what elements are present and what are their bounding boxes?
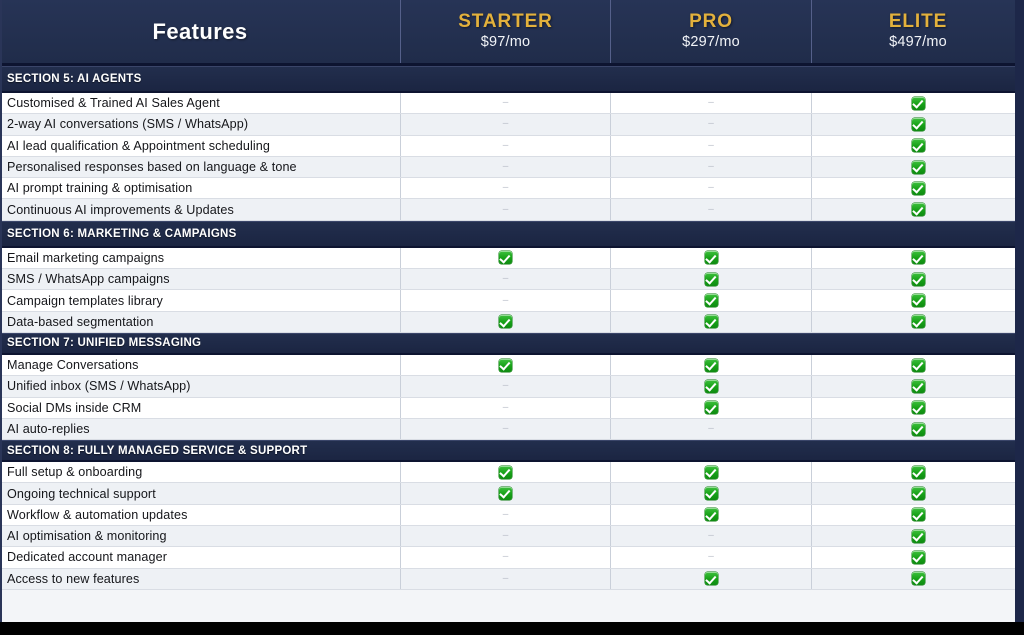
check-icon <box>705 466 718 479</box>
feature-excluded-cell: – <box>611 157 812 177</box>
feature-label: AI optimisation & monitoring <box>0 526 401 546</box>
dash-icon: – <box>503 274 509 284</box>
table-row: Manage Conversations <box>0 355 1024 376</box>
feature-label: Manage Conversations <box>0 355 401 375</box>
feature-excluded-cell: – <box>611 419 812 439</box>
feature-excluded-cell: – <box>401 114 611 134</box>
feature-included-cell <box>812 355 1024 375</box>
table-row: SMS / WhatsApp campaigns– <box>0 269 1024 290</box>
check-icon <box>912 423 925 436</box>
dash-icon: – <box>708 162 714 172</box>
plan-name-pro: PRO <box>689 11 733 33</box>
check-icon <box>912 294 925 307</box>
section-header: SECTION 5: AI AGENTS <box>0 66 1024 93</box>
feature-included-cell <box>401 312 611 332</box>
check-icon <box>705 487 718 500</box>
table-row: AI prompt training & optimisation–– <box>0 178 1024 199</box>
check-icon <box>912 97 925 110</box>
section-title: SECTION 8: FULLY MANAGED SERVICE & SUPPO… <box>7 445 307 457</box>
feature-label: Personalised responses based on language… <box>0 157 401 177</box>
pricing-comparison-table: Features STARTER $97/mo PRO $297/mo ELIT… <box>0 0 1024 635</box>
section-title: SECTION 7: UNIFIED MESSAGING <box>7 337 201 349</box>
header-cell-pro[interactable]: PRO $297/mo <box>611 0 812 63</box>
feature-label: Ongoing technical support <box>0 483 401 503</box>
feature-excluded-cell: – <box>401 526 611 546</box>
check-icon <box>912 551 925 564</box>
feature-label: Unified inbox (SMS / WhatsApp) <box>0 376 401 396</box>
check-icon <box>912 315 925 328</box>
table-row: AI lead qualification & Appointment sche… <box>0 136 1024 157</box>
table-row: Full setup & onboarding <box>0 462 1024 483</box>
feature-included-cell <box>812 398 1024 418</box>
feature-label: Workflow & automation updates <box>0 505 401 525</box>
dash-icon: – <box>708 119 714 129</box>
feature-excluded-cell: – <box>401 178 611 198</box>
feature-included-cell <box>611 398 812 418</box>
table-row: Social DMs inside CRM– <box>0 398 1024 419</box>
check-icon <box>912 139 925 152</box>
feature-excluded-cell: – <box>401 376 611 396</box>
feature-included-cell <box>611 505 812 525</box>
plan-name-elite: ELITE <box>889 11 947 33</box>
check-icon <box>912 273 925 286</box>
feature-included-cell <box>611 376 812 396</box>
check-icon <box>912 161 925 174</box>
feature-label: AI lead qualification & Appointment sche… <box>0 136 401 156</box>
table-body: SECTION 5: AI AGENTSCustomised & Trained… <box>0 66 1024 635</box>
check-icon <box>705 251 718 264</box>
check-icon <box>705 380 718 393</box>
feature-included-cell <box>812 376 1024 396</box>
check-icon <box>499 251 512 264</box>
header-cell-starter[interactable]: STARTER $97/mo <box>401 0 611 63</box>
feature-excluded-cell: – <box>401 136 611 156</box>
feature-included-cell <box>611 290 812 310</box>
feature-included-cell <box>611 312 812 332</box>
feature-included-cell <box>611 269 812 289</box>
section-header: SECTION 8: FULLY MANAGED SERVICE & SUPPO… <box>0 440 1024 462</box>
table-row: Access to new features– <box>0 569 1024 590</box>
features-title: Features <box>153 19 248 45</box>
feature-label: Campaign templates library <box>0 290 401 310</box>
frame-right-border <box>1015 0 1024 622</box>
section-title: SECTION 5: AI AGENTS <box>7 73 142 85</box>
feature-excluded-cell: – <box>401 93 611 113</box>
check-icon <box>912 251 925 264</box>
check-icon <box>705 359 718 372</box>
check-icon <box>912 487 925 500</box>
table-row: Campaign templates library– <box>0 290 1024 311</box>
feature-label: 2-way AI conversations (SMS / WhatsApp) <box>0 114 401 134</box>
dash-icon: – <box>503 403 509 413</box>
feature-label: Data-based segmentation <box>0 312 401 332</box>
table-row: AI auto-replies–– <box>0 419 1024 440</box>
plan-price-starter: $97/mo <box>481 33 531 53</box>
feature-excluded-cell: – <box>401 419 611 439</box>
table-row: Data-based segmentation <box>0 312 1024 333</box>
feature-excluded-cell: – <box>611 547 812 567</box>
check-icon <box>912 203 925 216</box>
table-header-row: Features STARTER $97/mo PRO $297/mo ELIT… <box>0 0 1024 66</box>
table-row: Continuous AI improvements & Updates–– <box>0 199 1024 220</box>
dash-icon: – <box>503 119 509 129</box>
feature-excluded-cell: – <box>401 290 611 310</box>
table-row: Personalised responses based on language… <box>0 157 1024 178</box>
dash-icon: – <box>503 531 509 541</box>
dash-icon: – <box>503 552 509 562</box>
feature-label: Access to new features <box>0 569 401 589</box>
feature-label: Email marketing campaigns <box>0 248 401 268</box>
table-row: Workflow & automation updates– <box>0 505 1024 526</box>
feature-included-cell <box>812 248 1024 268</box>
plan-name-starter: STARTER <box>458 11 553 33</box>
feature-label: Social DMs inside CRM <box>0 398 401 418</box>
feature-excluded-cell: – <box>401 157 611 177</box>
dash-icon: – <box>708 141 714 151</box>
check-icon <box>912 508 925 521</box>
feature-label: Continuous AI improvements & Updates <box>0 199 401 219</box>
feature-included-cell <box>611 355 812 375</box>
dash-icon: – <box>503 381 509 391</box>
dash-icon: – <box>503 162 509 172</box>
feature-label: Dedicated account manager <box>0 547 401 567</box>
check-icon <box>912 380 925 393</box>
table-row: Email marketing campaigns <box>0 248 1024 269</box>
feature-excluded-cell: – <box>401 547 611 567</box>
feature-excluded-cell: – <box>611 93 812 113</box>
feature-excluded-cell: – <box>611 199 812 219</box>
feature-excluded-cell: – <box>611 526 812 546</box>
check-icon <box>705 401 718 414</box>
check-icon <box>705 294 718 307</box>
feature-label: SMS / WhatsApp campaigns <box>0 269 401 289</box>
check-icon <box>499 315 512 328</box>
feature-excluded-cell: – <box>401 505 611 525</box>
section-header: SECTION 7: UNIFIED MESSAGING <box>0 333 1024 355</box>
dash-icon: – <box>503 296 509 306</box>
feature-included-cell <box>812 178 1024 198</box>
check-icon <box>705 572 718 585</box>
feature-included-cell <box>611 483 812 503</box>
feature-included-cell <box>812 199 1024 219</box>
check-icon <box>912 118 925 131</box>
feature-included-cell <box>812 569 1024 589</box>
dash-icon: – <box>503 205 509 215</box>
section-header: SECTION 6: MARKETING & CAMPAIGNS <box>0 221 1024 248</box>
feature-included-cell <box>812 269 1024 289</box>
feature-excluded-cell: – <box>611 178 812 198</box>
feature-label: AI prompt training & optimisation <box>0 178 401 198</box>
feature-included-cell <box>401 462 611 482</box>
header-cell-features: Features <box>0 0 401 63</box>
table-row: Unified inbox (SMS / WhatsApp)– <box>0 376 1024 397</box>
dash-icon: – <box>708 183 714 193</box>
section-title: SECTION 6: MARKETING & CAMPAIGNS <box>7 228 237 240</box>
dash-icon: – <box>503 574 509 584</box>
check-icon <box>912 182 925 195</box>
feature-label: AI auto-replies <box>0 419 401 439</box>
check-icon <box>499 466 512 479</box>
table-row: AI optimisation & monitoring–– <box>0 526 1024 547</box>
dash-icon: – <box>708 424 714 434</box>
plan-price-elite: $497/mo <box>889 33 947 53</box>
feature-included-cell <box>611 569 812 589</box>
dash-icon: – <box>503 424 509 434</box>
check-icon <box>912 466 925 479</box>
dash-icon: – <box>708 98 714 108</box>
check-icon <box>912 572 925 585</box>
feature-included-cell <box>812 505 1024 525</box>
table-row: Customised & Trained AI Sales Agent–– <box>0 93 1024 114</box>
feature-included-cell <box>401 355 611 375</box>
feature-included-cell <box>611 462 812 482</box>
frame-bottom-border <box>0 622 1024 635</box>
feature-included-cell <box>812 312 1024 332</box>
feature-included-cell <box>812 290 1024 310</box>
check-icon <box>499 487 512 500</box>
feature-included-cell <box>812 547 1024 567</box>
feature-excluded-cell: – <box>611 136 812 156</box>
dash-icon: – <box>708 552 714 562</box>
check-icon <box>912 359 925 372</box>
feature-label: Full setup & onboarding <box>0 462 401 482</box>
feature-included-cell <box>611 248 812 268</box>
table-row: Ongoing technical support <box>0 483 1024 504</box>
check-icon <box>499 359 512 372</box>
check-icon <box>705 508 718 521</box>
feature-excluded-cell: – <box>611 114 812 134</box>
feature-label: Customised & Trained AI Sales Agent <box>0 93 401 113</box>
check-icon <box>705 315 718 328</box>
feature-included-cell <box>812 483 1024 503</box>
feature-included-cell <box>812 157 1024 177</box>
feature-included-cell <box>812 136 1024 156</box>
dash-icon: – <box>708 531 714 541</box>
feature-excluded-cell: – <box>401 569 611 589</box>
feature-included-cell <box>401 483 611 503</box>
check-icon <box>705 273 718 286</box>
plan-price-pro: $297/mo <box>682 33 740 53</box>
dash-icon: – <box>503 141 509 151</box>
feature-included-cell <box>812 526 1024 546</box>
table-row: Dedicated account manager–– <box>0 547 1024 568</box>
feature-excluded-cell: – <box>401 199 611 219</box>
dash-icon: – <box>503 98 509 108</box>
feature-included-cell <box>812 93 1024 113</box>
feature-included-cell <box>812 419 1024 439</box>
check-icon <box>912 401 925 414</box>
dash-icon: – <box>503 183 509 193</box>
feature-excluded-cell: – <box>401 269 611 289</box>
feature-excluded-cell: – <box>401 398 611 418</box>
dash-icon: – <box>503 510 509 520</box>
feature-included-cell <box>812 114 1024 134</box>
dash-icon: – <box>708 205 714 215</box>
feature-included-cell <box>812 462 1024 482</box>
feature-included-cell <box>401 248 611 268</box>
header-cell-elite[interactable]: ELITE $497/mo <box>812 0 1024 63</box>
frame-left-border <box>0 0 2 622</box>
check-icon <box>912 530 925 543</box>
table-row: 2-way AI conversations (SMS / WhatsApp)–… <box>0 114 1024 135</box>
